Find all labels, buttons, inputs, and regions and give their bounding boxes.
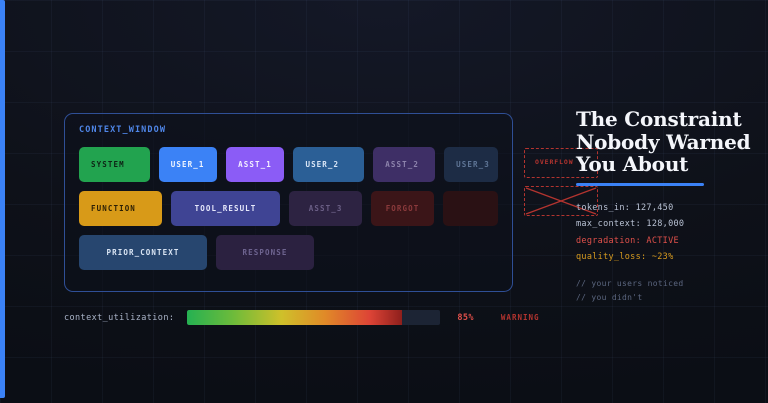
token-row: PRIOR_CONTEXTRESPONSE <box>79 235 498 270</box>
headline-line-3: You About <box>576 153 756 176</box>
token-row: FUNCTIONTOOL_RESULTASST_3FORGOT <box>79 191 498 226</box>
background-canvas: CONTEXT_WINDOW SYSTEMUSER_1ASST_1USER_2A… <box>0 0 768 403</box>
left-accent-bar <box>0 0 5 398</box>
token-block[interactable]: USER_2 <box>293 147 364 182</box>
headline-line-1: The Constraint <box>576 108 756 131</box>
utilization-percent: 85% <box>457 313 474 323</box>
token-block[interactable]: ASST_3 <box>289 191 362 226</box>
token-block[interactable]: USER_1 <box>159 147 217 182</box>
stats-list: tokens_in: 127,450max_context: 128,000de… <box>576 200 756 266</box>
comment-list: // your users noticed// you didn't <box>576 277 683 305</box>
token-block[interactable]: SYSTEM <box>79 147 150 182</box>
token-block[interactable]: ASST_1 <box>226 147 284 182</box>
utilization-track <box>187 310 440 325</box>
stat-line: max_context: 128,000 <box>576 216 756 233</box>
token-rows: SYSTEMUSER_1ASST_1USER_2ASST_2USER_3FUNC… <box>79 147 498 279</box>
utilization-fill <box>187 310 402 325</box>
stat-line: tokens_in: 127,450 <box>576 200 756 217</box>
token-row: SYSTEMUSER_1ASST_1USER_2ASST_2USER_3 <box>79 147 498 182</box>
utilization-label: context_utilization: <box>64 313 174 323</box>
comment-line: // you didn't <box>576 291 683 305</box>
headline-line-2: Nobody Warned <box>576 131 756 154</box>
token-block[interactable]: RESPONSE <box>216 235 314 270</box>
token-block[interactable]: FORGOT <box>371 191 434 226</box>
token-block[interactable]: PRIOR_CONTEXT <box>79 235 207 270</box>
token-block[interactable] <box>443 191 498 226</box>
context-window-label: CONTEXT_WINDOW <box>79 125 166 135</box>
stat-line: degradation: ACTIVE <box>576 233 756 250</box>
context-window-panel: CONTEXT_WINDOW SYSTEMUSER_1ASST_1USER_2A… <box>64 113 513 292</box>
headline-underline <box>576 183 704 186</box>
status-badge: WARNING <box>501 313 540 322</box>
context-utilization-row: context_utilization: 85% WARNING <box>64 310 540 325</box>
token-block[interactable]: USER_3 <box>444 147 498 182</box>
headline-block: The Constraint Nobody Warned You About t… <box>576 108 756 266</box>
token-block[interactable]: ASST_2 <box>373 147 435 182</box>
comment-line: // your users noticed <box>576 277 683 291</box>
stat-line: quality_loss: ~23% <box>576 249 756 266</box>
token-block[interactable]: FUNCTION <box>79 191 162 226</box>
page-title: The Constraint Nobody Warned You About <box>576 108 756 176</box>
token-block[interactable]: TOOL_RESULT <box>171 191 281 226</box>
overflow-label: OVERFLOW <box>535 158 574 166</box>
